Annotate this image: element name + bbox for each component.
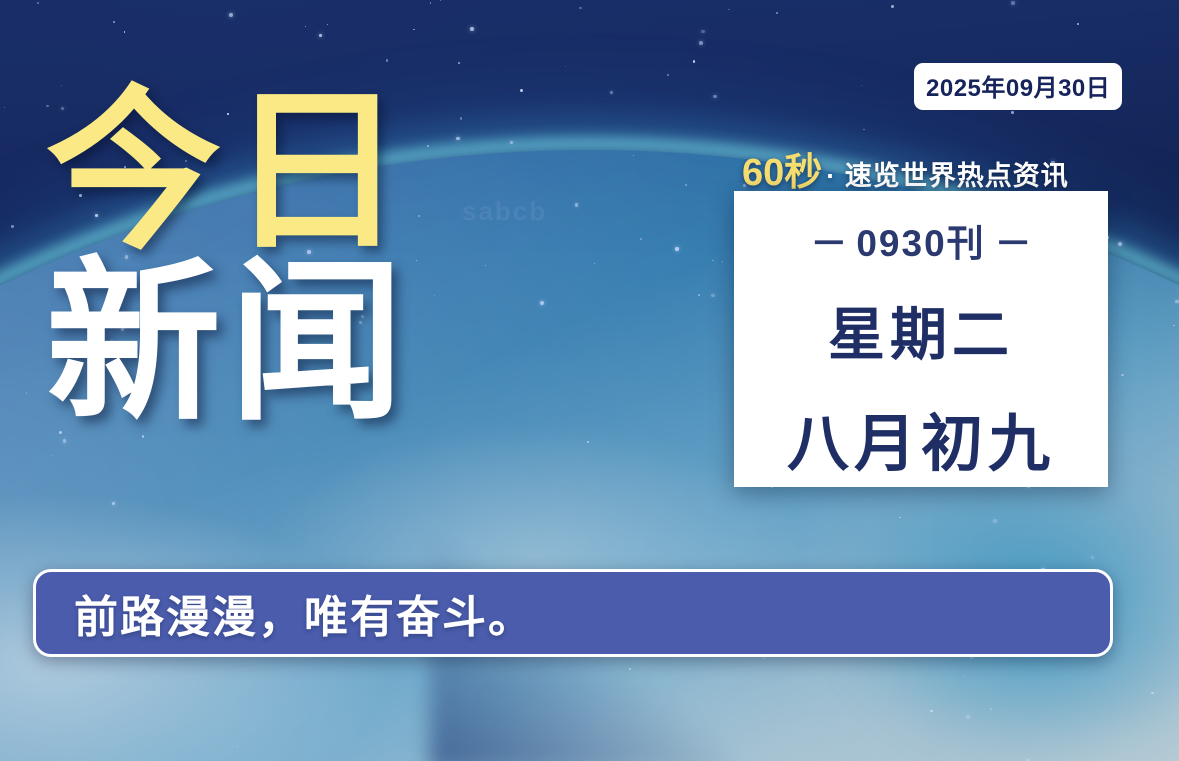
star bbox=[667, 74, 669, 76]
star bbox=[776, 12, 778, 14]
star bbox=[456, 137, 460, 141]
star bbox=[587, 441, 589, 443]
news-poster: sabcb 今日 新闻 2025年09月30日 60秒· 速览世界热点资讯 －0… bbox=[0, 0, 1179, 761]
star bbox=[701, 30, 705, 34]
lunar-date-label: 八月初九 bbox=[734, 393, 1108, 483]
star bbox=[485, 265, 486, 266]
page-title: 今日 新闻 bbox=[46, 92, 412, 424]
star bbox=[693, 60, 695, 62]
star bbox=[418, 215, 420, 217]
star bbox=[124, 31, 126, 33]
star bbox=[990, 708, 992, 710]
star bbox=[510, 141, 513, 144]
title-line-jinri: 今日 bbox=[46, 92, 412, 253]
star bbox=[540, 301, 544, 305]
title-line-xinwen: 新闻 bbox=[46, 263, 412, 424]
star bbox=[430, 2, 432, 4]
star bbox=[712, 260, 714, 262]
star bbox=[416, 260, 417, 261]
star bbox=[899, 517, 901, 519]
star bbox=[891, 5, 894, 8]
star bbox=[1118, 242, 1122, 246]
issue-number: 0930刊 bbox=[856, 223, 985, 264]
star bbox=[1011, 111, 1014, 114]
star bbox=[11, 225, 14, 228]
star bbox=[460, 117, 462, 119]
star bbox=[440, 0, 441, 1]
star bbox=[861, 85, 862, 86]
watermark-text: sabcb bbox=[462, 196, 547, 227]
star bbox=[26, 392, 28, 394]
star bbox=[1173, 325, 1175, 327]
star bbox=[386, 59, 389, 62]
star bbox=[722, 261, 723, 262]
star bbox=[964, 675, 965, 676]
star bbox=[993, 519, 997, 523]
star bbox=[319, 34, 322, 37]
weekday-label: 星期二 bbox=[734, 289, 1108, 371]
star bbox=[37, 2, 39, 4]
star bbox=[327, 24, 328, 25]
star bbox=[579, 7, 582, 10]
star bbox=[112, 502, 115, 505]
tagline-highlight: 60秒 bbox=[742, 152, 822, 194]
star bbox=[713, 95, 717, 99]
star bbox=[863, 129, 865, 131]
star bbox=[51, 455, 52, 456]
star bbox=[1175, 300, 1178, 303]
date-badge: 2025年09月30日 bbox=[914, 63, 1122, 110]
star bbox=[458, 62, 460, 64]
quote-text: 前路漫漫，唯有奋斗。 bbox=[74, 581, 534, 645]
star bbox=[685, 184, 687, 186]
issue-info-card: －0930刊－ 星期二 八月初九 bbox=[734, 191, 1108, 487]
star bbox=[520, 89, 523, 92]
star bbox=[1151, 692, 1153, 694]
issue-dash-right: － bbox=[986, 223, 1041, 264]
star bbox=[1091, 556, 1094, 559]
star bbox=[640, 238, 642, 240]
star bbox=[675, 247, 679, 251]
star bbox=[594, 263, 596, 265]
star bbox=[610, 91, 613, 94]
tagline: 60秒· 速览世界热点资讯 bbox=[742, 141, 1069, 196]
star bbox=[966, 715, 970, 719]
star bbox=[470, 27, 474, 31]
tagline-rest: · 速览世界热点资讯 bbox=[826, 161, 1069, 191]
star bbox=[113, 21, 115, 23]
star bbox=[1121, 374, 1124, 377]
star bbox=[633, 155, 634, 156]
issue-number-row: －0930刊－ bbox=[734, 213, 1108, 267]
star bbox=[305, 26, 306, 27]
star bbox=[575, 203, 579, 207]
quote-bar: 前路漫漫，唯有奋斗。 bbox=[33, 569, 1113, 657]
star bbox=[1077, 23, 1079, 25]
star bbox=[629, 668, 632, 671]
star bbox=[237, 746, 239, 748]
star bbox=[699, 41, 703, 45]
star bbox=[427, 145, 429, 147]
star bbox=[711, 294, 714, 297]
star bbox=[728, 9, 730, 11]
issue-dash-left: － bbox=[801, 223, 856, 264]
star bbox=[930, 710, 933, 713]
star bbox=[1011, 1, 1015, 5]
star bbox=[698, 294, 701, 297]
star bbox=[413, 29, 415, 31]
star bbox=[434, 295, 435, 296]
star bbox=[4, 107, 5, 108]
star bbox=[229, 13, 233, 17]
star bbox=[565, 66, 567, 68]
